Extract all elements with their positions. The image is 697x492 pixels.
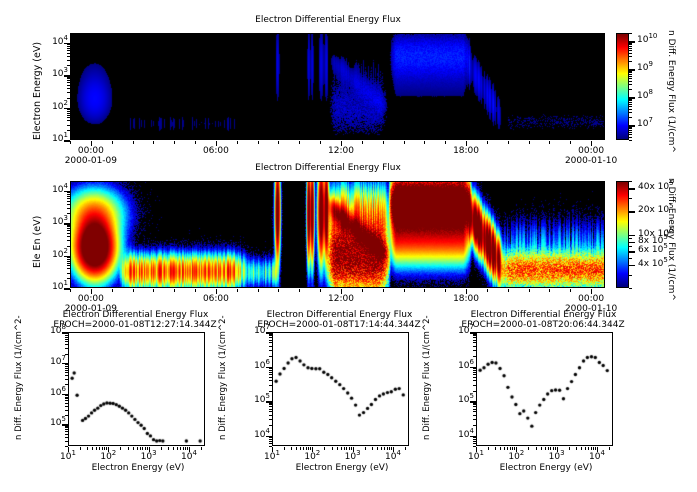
axis-tick: [67, 278, 70, 279]
axis-tick: [67, 78, 70, 79]
axis-tick: [67, 259, 70, 260]
axis-tick-label: 106: [444, 361, 474, 371]
spectrum-3-plot[interactable]: [476, 332, 613, 446]
axis-tick: [629, 251, 632, 252]
axis-tick: [362, 141, 363, 144]
axis-tick: [269, 404, 272, 405]
axis-tick: [488, 447, 489, 450]
axis-tick: [299, 289, 300, 292]
axis-tick: [495, 447, 496, 450]
axis-tick: [391, 447, 392, 450]
axis-tick-label: 101: [56, 452, 80, 462]
axis-tick: [591, 447, 592, 450]
axis-tick: [153, 289, 154, 292]
axis-tick: [185, 447, 186, 450]
axis-tick: [629, 44, 632, 45]
axis-tick: [269, 391, 272, 392]
axis-tick: [629, 100, 632, 101]
axis-tick: [112, 141, 113, 144]
axis-tick: [67, 230, 70, 231]
axis-tick: [92, 447, 93, 450]
axis-tick: [65, 403, 68, 404]
axis-tick-label: 105: [36, 418, 66, 428]
mid-spectrogram-plot[interactable]: [70, 181, 605, 288]
axis-tick: [65, 368, 68, 369]
axis-tick: [629, 106, 632, 107]
axis-tick: [153, 141, 154, 144]
axis-tick-label: 103: [137, 452, 161, 462]
axis-tick: [536, 447, 537, 450]
mid-colorbar-axis: 4x 1056x 1058x 10510x 10520x 10540x 105: [629, 176, 689, 294]
top-colorbar-axis: 1071081091010: [629, 28, 669, 146]
axis-tick: [65, 400, 68, 401]
axis-tick: [629, 128, 632, 129]
axis-tick: [269, 441, 272, 442]
axis-tick: [269, 437, 272, 438]
top-panel-y-axis: 101102103104: [38, 28, 70, 146]
axis-tick: [303, 447, 304, 450]
axis-tick: [570, 141, 571, 144]
time-tick-label: 12:00: [325, 294, 357, 304]
axis-tick: [310, 447, 311, 450]
axis-tick-label: 101: [464, 452, 488, 462]
axis-tick: [65, 398, 68, 399]
axis-tick: [269, 377, 272, 378]
time-tick-label: 18:00: [450, 294, 482, 304]
axis-tick: [112, 289, 113, 292]
axis-tick: [629, 109, 632, 110]
axis-tick: [269, 346, 272, 347]
axis-tick: [161, 447, 162, 450]
axis-tick: [67, 213, 70, 214]
spectrum-2-xlabel: Electron Energy (eV): [277, 463, 407, 473]
spectrum-1-xlabel: Electron Energy (eV): [73, 463, 203, 473]
axis-tick: [629, 72, 632, 73]
axis-tick: [629, 188, 632, 189]
axis-tick: [337, 447, 338, 450]
axis-tick: [65, 429, 68, 430]
axis-tick-label: 103: [38, 217, 68, 227]
axis-tick: [269, 350, 272, 351]
axis-tick: [65, 364, 68, 365]
axis-tick: [237, 141, 238, 144]
axis-tick: [258, 289, 259, 292]
axis-tick: [510, 447, 511, 450]
axis-tick: [67, 257, 70, 258]
axis-tick: [65, 406, 68, 407]
axis-tick: [237, 289, 238, 292]
axis-tick: [67, 236, 70, 237]
axis-tick: [306, 447, 307, 450]
axis-tick: [629, 84, 632, 85]
axis-tick: [67, 196, 70, 197]
axis-tick: [65, 348, 68, 349]
axis-tick: [629, 198, 632, 199]
axis-tick: [168, 447, 169, 450]
axis-tick: [67, 46, 70, 47]
axis-tick: [346, 447, 347, 450]
axis-tick: [541, 447, 542, 450]
axis-tick: [383, 289, 384, 292]
axis-tick: [473, 409, 476, 410]
axis-tick: [133, 447, 134, 450]
axis-tick: [87, 447, 88, 450]
axis-tick: [65, 441, 68, 442]
axis-tick-label: 1010: [637, 35, 657, 45]
axis-tick: [67, 65, 70, 66]
axis-tick-label: 102: [300, 452, 324, 462]
axis-tick: [629, 246, 632, 247]
axis-tick: [473, 335, 476, 336]
axis-tick: [473, 368, 476, 369]
axis-tick: [133, 289, 134, 292]
axis-tick: [351, 447, 352, 450]
axis-tick: [67, 246, 70, 247]
axis-tick: [588, 447, 589, 450]
axis-tick: [372, 447, 373, 450]
axis-tick: [67, 233, 70, 234]
axis-tick: [269, 415, 272, 416]
axis-tick: [473, 439, 476, 440]
time-tick-label: 00:00: [75, 146, 107, 156]
axis-tick: [629, 89, 632, 90]
axis-tick-label: 101: [260, 452, 284, 462]
axis-tick: [473, 370, 476, 371]
axis-tick: [473, 425, 476, 426]
mid-panel-y-axis: 101102103104: [38, 176, 70, 294]
axis-tick: [629, 78, 632, 79]
axis-tick: [473, 334, 476, 335]
time-tick-label: 00:00: [575, 294, 607, 304]
spectrum-3-ylabel: n Diff. Energy Flux (1/(cm^2-: [422, 315, 432, 440]
axis-tick: [487, 289, 488, 292]
axis-tick: [104, 447, 105, 450]
top-spectrogram-plot[interactable]: [70, 33, 605, 140]
axis-tick: [629, 235, 632, 236]
axis-tick: [133, 141, 134, 144]
axis-tick: [201, 447, 202, 450]
axis-tick: [473, 372, 476, 373]
axis-tick-label: 109: [637, 63, 653, 73]
spectrum-1-subtitle: EPOCH=2000-01-08T12:27:14.344Z: [40, 320, 230, 330]
axis-tick: [296, 447, 297, 450]
axis-tick: [629, 81, 632, 82]
axis-tick: [291, 447, 292, 450]
axis-tick: [269, 368, 272, 369]
axis-tick: [344, 447, 345, 450]
axis-tick: [629, 132, 632, 133]
axis-tick: [137, 447, 138, 450]
axis-tick: [67, 265, 70, 266]
axis-tick-label: 102: [96, 452, 120, 462]
axis-tick: [65, 375, 68, 376]
axis-tick: [629, 275, 632, 276]
axis-tick-label: 106: [240, 361, 270, 371]
axis-tick: [269, 380, 272, 381]
spectrum-2-y-axis: 104105106107: [240, 327, 272, 451]
axis-tick: [473, 403, 476, 404]
axis-tick: [629, 265, 632, 266]
axis-tick: [269, 425, 272, 426]
axis-tick: [174, 141, 175, 144]
axis-tick: [142, 447, 143, 450]
time-tick-label: 18:00: [450, 146, 482, 156]
axis-tick: [473, 404, 476, 405]
spectrum-3-y-axis: 104105106107: [444, 327, 476, 451]
axis-tick: [67, 82, 70, 83]
axis-tick: [473, 419, 476, 420]
axis-tick: [65, 335, 68, 336]
axis-tick: [67, 226, 70, 227]
axis-tick: [269, 385, 272, 386]
axis-tick-label: 107: [444, 326, 474, 336]
axis-tick: [629, 137, 632, 138]
axis-tick: [629, 242, 632, 243]
spectrum-3-subtitle: EPOCH=2000-01-08T20:06:44.344Z: [448, 320, 638, 330]
axis-tick: [473, 441, 476, 442]
axis-tick: [383, 141, 384, 144]
axis-tick: [269, 370, 272, 371]
axis-tick-label: 108: [36, 326, 66, 336]
axis-tick: [67, 263, 70, 264]
axis-tick: [269, 409, 272, 410]
axis-tick: [299, 141, 300, 144]
axis-tick: [332, 447, 333, 450]
axis-tick: [593, 447, 594, 450]
axis-tick: [65, 426, 68, 427]
axis-tick: [180, 447, 181, 450]
axis-tick: [67, 85, 70, 86]
axis-tick: [473, 350, 476, 351]
axis-tick: [341, 447, 342, 450]
axis-tick: [473, 380, 476, 381]
axis-tick: [147, 447, 148, 450]
axis-tick: [553, 447, 554, 450]
axis-tick: [629, 48, 632, 49]
axis-tick: [576, 447, 577, 450]
axis-tick: [258, 141, 259, 144]
axis-tick: [362, 289, 363, 292]
spectrum-2-ylabel: n Diff. Energy Flux (1/(cm^2-: [218, 315, 228, 440]
axis-tick: [320, 141, 321, 144]
axis-tick: [595, 447, 596, 450]
spectrum-3-title: Electron Differential Energy Flux: [456, 310, 631, 320]
axis-tick: [629, 43, 632, 44]
axis-tick: [424, 289, 425, 292]
top-colorbar: [616, 33, 629, 140]
axis-tick: [548, 447, 549, 450]
axis-tick: [187, 447, 188, 450]
axis-tick: [384, 447, 385, 450]
axis-tick: [140, 447, 141, 450]
axis-tick: [473, 374, 476, 375]
axis-tick-label: 104: [38, 37, 68, 47]
axis-tick: [629, 140, 632, 141]
axis-tick: [629, 288, 632, 289]
axis-tick: [629, 238, 632, 239]
axis-tick: [404, 289, 405, 292]
axis-tick: [629, 33, 632, 34]
axis-tick: [278, 141, 279, 144]
time-tick-label: 00:00: [75, 294, 107, 304]
axis-tick: [629, 104, 632, 105]
axis-tick: [473, 437, 476, 438]
axis-tick: [404, 141, 405, 144]
axis-tick: [70, 141, 71, 144]
axis-tick: [269, 356, 272, 357]
axis-tick: [445, 141, 446, 144]
axis-tick: [67, 192, 70, 193]
axis-tick: [65, 434, 68, 435]
axis-tick: [65, 333, 68, 334]
axis-tick: [349, 447, 350, 450]
axis-tick: [67, 120, 70, 121]
axis-tick: [555, 447, 556, 450]
axis-tick-label: 104: [177, 452, 201, 462]
axis-tick-label: 103: [38, 69, 68, 79]
axis-tick: [67, 125, 70, 126]
axis-tick: [65, 437, 68, 438]
axis-tick: [67, 56, 70, 57]
axis-tick: [514, 447, 515, 450]
axis-tick: [67, 60, 70, 61]
axis-tick: [405, 447, 406, 450]
axis-tick: [67, 261, 70, 262]
axis-tick: [195, 141, 196, 144]
axis-tick: [549, 141, 550, 144]
axis-tick: [473, 406, 476, 407]
axis-tick: [65, 410, 68, 411]
axis-tick: [67, 194, 70, 195]
axis-tick: [67, 117, 70, 118]
axis-tick: [65, 427, 68, 428]
time-tick-label: 12:00: [325, 146, 357, 156]
axis-tick: [473, 391, 476, 392]
axis-tick-label: 101: [38, 282, 68, 292]
axis-tick: [173, 447, 174, 450]
spectrum-1-title: Electron Differential Energy Flux: [48, 310, 223, 320]
axis-tick: [445, 289, 446, 292]
spectrum-2-plot[interactable]: [272, 332, 409, 446]
axis-tick: [67, 115, 70, 116]
axis-tick: [629, 99, 632, 100]
axis-tick: [67, 228, 70, 229]
mid-colorbar-label: n Diff. Energy Flux (1/(cm^: [666, 178, 676, 301]
axis-tick: [377, 447, 378, 450]
colorbar-tick-label: 6x 105: [638, 245, 668, 255]
axis-tick: [473, 340, 476, 341]
axis-tick: [80, 447, 81, 450]
axis-tick: [65, 339, 68, 340]
mid-colorbar: [616, 181, 629, 288]
axis-tick: [473, 337, 476, 338]
axis-tick: [67, 111, 70, 112]
axis-tick: [106, 447, 107, 450]
axis-tick: [269, 374, 272, 375]
axis-tick-label: 102: [38, 250, 68, 260]
axis-tick: [473, 342, 476, 343]
axis-tick: [67, 53, 70, 54]
axis-tick: [629, 46, 632, 47]
axis-tick: [324, 447, 325, 450]
axis-tick-label: 108: [637, 91, 653, 101]
axis-tick: [545, 447, 546, 450]
axis-tick: [67, 113, 70, 114]
axis-tick: [99, 447, 100, 450]
axis-tick: [67, 201, 70, 202]
axis-tick-label: 107: [637, 119, 653, 129]
axis-tick: [67, 98, 70, 99]
axis-tick: [549, 289, 550, 292]
axis-tick: [70, 289, 71, 292]
axis-tick: [183, 447, 184, 450]
axis-tick: [473, 443, 476, 444]
axis-tick: [65, 337, 68, 338]
axis-tick: [473, 346, 476, 347]
axis-tick-label: 102: [504, 452, 528, 462]
axis-tick: [308, 447, 309, 450]
axis-tick: [529, 289, 530, 292]
axis-tick-label: 104: [585, 452, 609, 462]
axis-tick: [569, 447, 570, 450]
axis-tick: [508, 141, 509, 144]
axis-tick: [65, 366, 68, 367]
axis-tick: [128, 447, 129, 450]
axis-tick-label: 102: [38, 102, 68, 112]
axis-tick-label: 104: [240, 430, 270, 440]
axis-tick: [65, 395, 68, 396]
axis-tick-label: 104: [444, 430, 474, 440]
axis-tick: [67, 44, 70, 45]
spectrum-1-plot[interactable]: [68, 332, 205, 446]
axis-tick-label: 107: [36, 357, 66, 367]
axis-tick: [269, 372, 272, 373]
date-tick-label: 2000-01-09: [63, 156, 119, 166]
axis-tick: [269, 340, 272, 341]
axis-tick: [102, 447, 103, 450]
axis-tick: [528, 447, 529, 450]
axis-tick-label: 105: [240, 395, 270, 405]
axis-tick: [629, 112, 632, 113]
axis-tick: [424, 141, 425, 144]
axis-tick: [96, 447, 97, 450]
axis-tick: [629, 130, 632, 131]
axis-tick: [500, 447, 501, 450]
axis-tick: [473, 411, 476, 412]
axis-tick: [629, 181, 632, 182]
axis-tick: [120, 447, 121, 450]
axis-tick: [67, 80, 70, 81]
axis-tick: [67, 204, 70, 205]
axis-tick: [507, 447, 508, 450]
axis-tick: [65, 341, 68, 342]
axis-tick: [473, 377, 476, 378]
axis-tick: [67, 198, 70, 199]
top-panel-title: Electron Differential Energy Flux: [178, 15, 478, 25]
axis-tick: [65, 415, 68, 416]
axis-tick: [629, 61, 632, 62]
spectrum-2-title: Electron Differential Energy Flux: [252, 310, 427, 320]
axis-tick: [67, 77, 70, 78]
axis-tick: [629, 50, 632, 51]
axis-tick: [381, 447, 382, 450]
axis-tick: [389, 447, 390, 450]
axis-tick: [473, 415, 476, 416]
axis-tick: [67, 240, 70, 241]
axis-tick: [629, 74, 632, 75]
axis-tick: [585, 447, 586, 450]
axis-tick: [65, 354, 68, 355]
